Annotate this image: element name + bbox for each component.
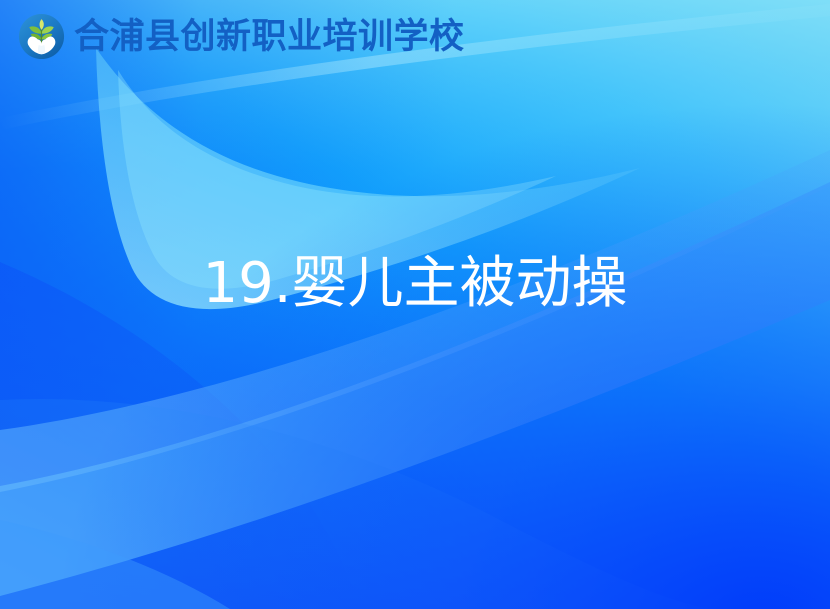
school-name-label: 合浦县创新职业培训学校 [74,19,465,54]
slide-header: 合浦县创新职业培训学校 [0,0,830,72]
title-block: 19.婴儿主被动操 [0,214,830,353]
school-logo-icon [18,13,65,60]
presentation-slide: 合浦县创新职业培训学校 19.婴儿主被动操 [0,0,830,609]
slide-title: 19.婴儿主被动操 [202,252,627,316]
